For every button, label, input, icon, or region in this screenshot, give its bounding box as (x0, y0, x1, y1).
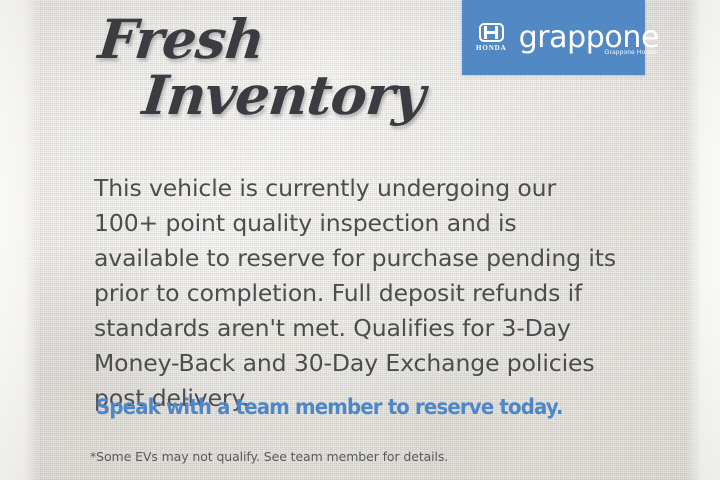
body-copy: This vehicle is currently undergoing our… (94, 171, 626, 416)
page-title: Fresh Inventory (96, 12, 396, 122)
footnote-disclaimer: *Some EVs may not qualify. See team memb… (90, 449, 448, 464)
grappone-subtitle: Grappone Honda (604, 49, 657, 56)
fresh-inventory-card: HONDA grappone Grappone Honda Fresh Inve… (0, 0, 720, 480)
page-title-line-1: Fresh (96, 12, 402, 66)
brand-banner: HONDA grappone Grappone Honda (462, 0, 645, 75)
honda-wordmark: HONDA (476, 45, 507, 52)
honda-h-emblem-icon (479, 23, 504, 42)
grappone-logo: grappone Grappone Honda (519, 22, 659, 53)
honda-logo: HONDA (476, 23, 507, 52)
cta-text: Speak with a team member to reserve toda… (96, 395, 563, 419)
page-title-line-2: Inventory (140, 68, 402, 122)
